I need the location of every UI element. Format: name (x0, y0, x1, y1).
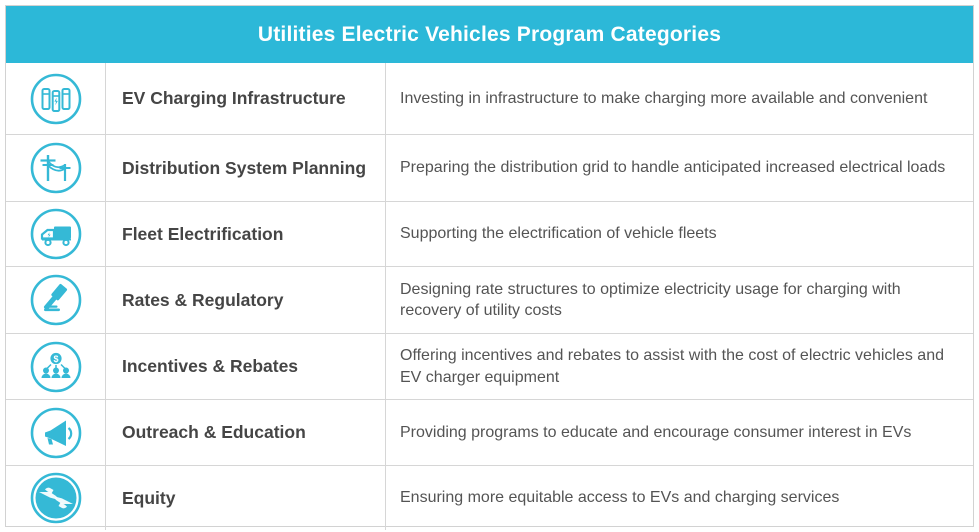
row-description-cell: Supporting the electrification of vehicl… (386, 202, 973, 266)
row-description-cell: Investing in infrastructure to make char… (386, 63, 973, 134)
svg-text:$: $ (53, 354, 58, 364)
row-category-cell: Rates & Regulatory (106, 267, 386, 333)
row-category-cell: Outreach & Education (106, 400, 386, 465)
power-line-pole-icon (28, 140, 84, 196)
row-icon-cell (6, 202, 106, 266)
row-category-cell: Distribution System Planning (106, 135, 386, 201)
table-body: EV Charging Infrastructure Investing in … (6, 63, 973, 530)
row-category-cell: EV Charging Infrastructure (106, 63, 386, 134)
category-label: Equity (122, 487, 175, 509)
table-row: Distribution System Planning Preparing t… (6, 134, 973, 201)
row-icon-cell (6, 267, 106, 333)
ev-charging-station-icon (28, 71, 84, 127)
program-categories-table: Utilities Electric Vehicles Program Cate… (5, 5, 974, 527)
electric-truck-icon (28, 206, 84, 262)
helping-hands-icon (28, 470, 84, 526)
category-description: Designing rate structures to optimize el… (400, 279, 959, 322)
category-description: Ensuring more equitable access to EVs an… (400, 487, 839, 508)
table-row: $ Incentives & Rebates (6, 333, 973, 399)
category-description: Supporting the electrification of vehicl… (400, 223, 717, 244)
category-label: Rates & Regulatory (122, 289, 283, 311)
row-icon-cell (6, 400, 106, 465)
row-category-cell: Incentives & Rebates (106, 334, 386, 399)
row-description-cell: Designing rate structures to optimize el… (386, 267, 973, 333)
table-row: Equity Ensuring more equitable access to… (6, 465, 973, 530)
category-description: Providing programs to educate and encour… (400, 422, 911, 443)
row-description-cell: Providing programs to educate and encour… (386, 400, 973, 465)
row-category-cell: Equity (106, 466, 386, 530)
table-row: Fleet Electrification Supporting the ele… (6, 201, 973, 266)
category-label: Fleet Electrification (122, 223, 283, 245)
row-description-cell: Ensuring more equitable access to EVs an… (386, 466, 973, 530)
row-description-cell: Offering incentives and rebates to assis… (386, 334, 973, 399)
gavel-icon (28, 272, 84, 328)
category-label: Outreach & Education (122, 421, 306, 443)
table-row: Outreach & Education Providing programs … (6, 399, 973, 465)
page-title: Utilities Electric Vehicles Program Cate… (258, 23, 721, 46)
row-icon-cell (6, 63, 106, 134)
category-description: Preparing the distribution grid to handl… (400, 157, 945, 178)
category-label: Incentives & Rebates (122, 355, 298, 377)
row-description-cell: Preparing the distribution grid to handl… (386, 135, 973, 201)
row-category-cell: Fleet Electrification (106, 202, 386, 266)
category-label: EV Charging Infrastructure (122, 87, 346, 109)
table-header: Utilities Electric Vehicles Program Cate… (6, 6, 973, 63)
money-to-people-icon: $ (28, 339, 84, 395)
row-icon-cell (6, 466, 106, 530)
row-icon-cell (6, 135, 106, 201)
category-label: Distribution System Planning (122, 157, 366, 179)
table-row: Rates & Regulatory Designing rate struct… (6, 266, 973, 333)
category-description: Offering incentives and rebates to assis… (400, 345, 959, 388)
category-description: Investing in infrastructure to make char… (400, 88, 927, 109)
row-icon-cell: $ (6, 334, 106, 399)
megaphone-icon (28, 405, 84, 461)
table-row: EV Charging Infrastructure Investing in … (6, 63, 973, 134)
